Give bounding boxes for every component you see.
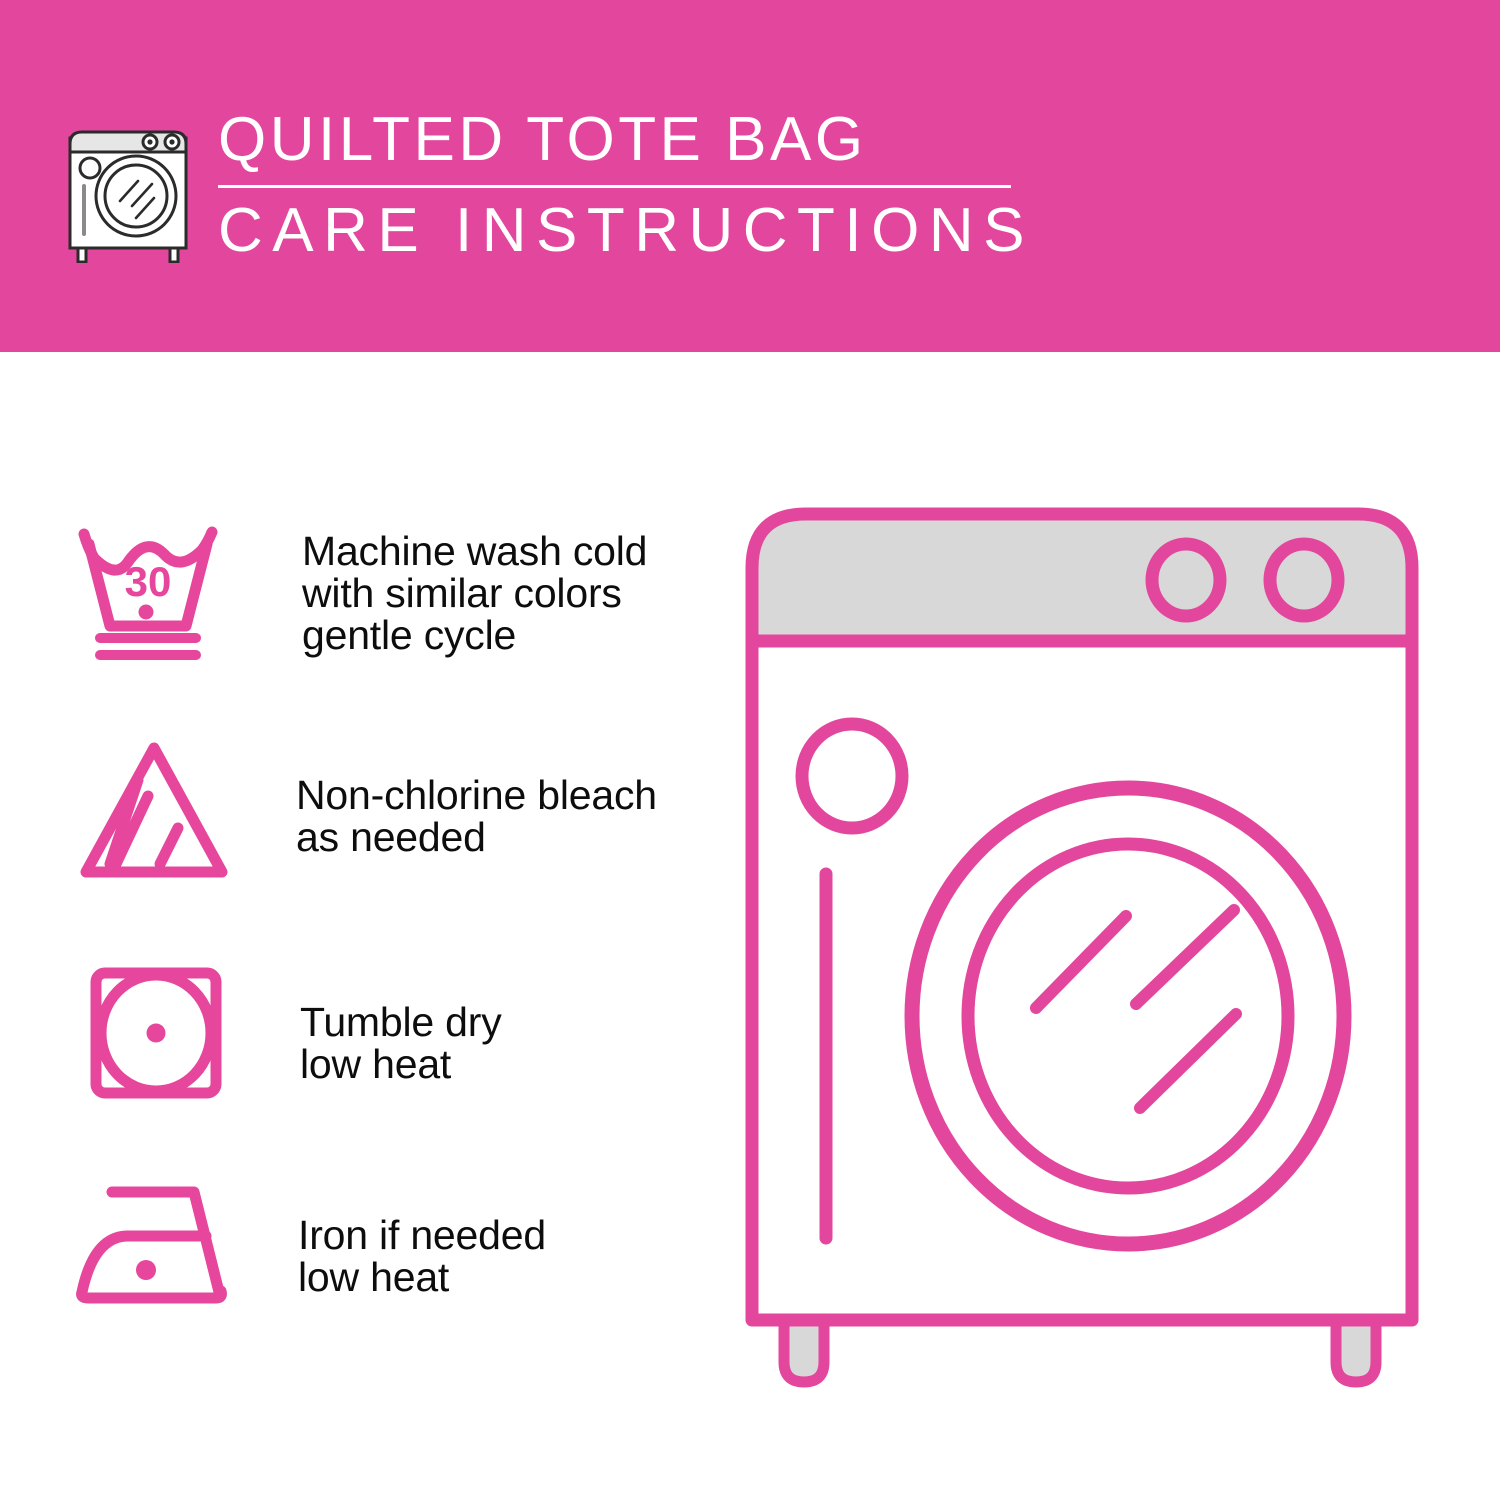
iron-low-heat-icon [68, 1174, 238, 1319]
page-title: QUILTED TOTE BAG [218, 104, 1018, 176]
care-item-text-machine-wash: Machine wash cold with similar colors ge… [302, 530, 647, 656]
tumble-dry-low-heat-icon [86, 963, 226, 1108]
wash-tub-30-gentle-icon: 30 [72, 514, 232, 669]
page-subtitle: CARE INSTRUCTIONS [218, 195, 1018, 267]
care-item-text-iron: Iron if needed low heat [298, 1214, 546, 1298]
care-item-iron: Iron if needed low heat [0, 1168, 700, 1368]
bleach-triangle-non-chlorine-icon [74, 736, 234, 891]
care-instruction-list: 30 Machine wash cold with similar colors… [0, 498, 700, 1368]
care-item-text-tumble-dry: Tumble dry low heat [300, 1001, 502, 1085]
care-item-machine-wash: 30 Machine wash cold with similar colors… [0, 498, 700, 708]
care-item-text-bleach: Non-chlorine bleach as needed [296, 774, 657, 858]
title-divider [218, 185, 1011, 188]
header-title-block: QUILTED TOTE BAG CARE INSTRUCTIONS [218, 104, 1018, 267]
front-load-washing-machine-illustration [736, 496, 1456, 1416]
care-item-tumble-dry: Tumble dry low heat [0, 953, 700, 1168]
wash-temp-label: 30 [125, 558, 172, 605]
care-instructions-infographic: QUILTED TOTE BAG CARE INSTRUCTIONS 30 [0, 0, 1500, 1500]
machine-body [752, 641, 1412, 1320]
care-item-bleach: Non-chlorine bleach as needed [0, 708, 700, 953]
header-banner: QUILTED TOTE BAG CARE INSTRUCTIONS [0, 0, 1500, 352]
washing-machine-icon [62, 108, 194, 263]
control-panel [752, 514, 1412, 641]
